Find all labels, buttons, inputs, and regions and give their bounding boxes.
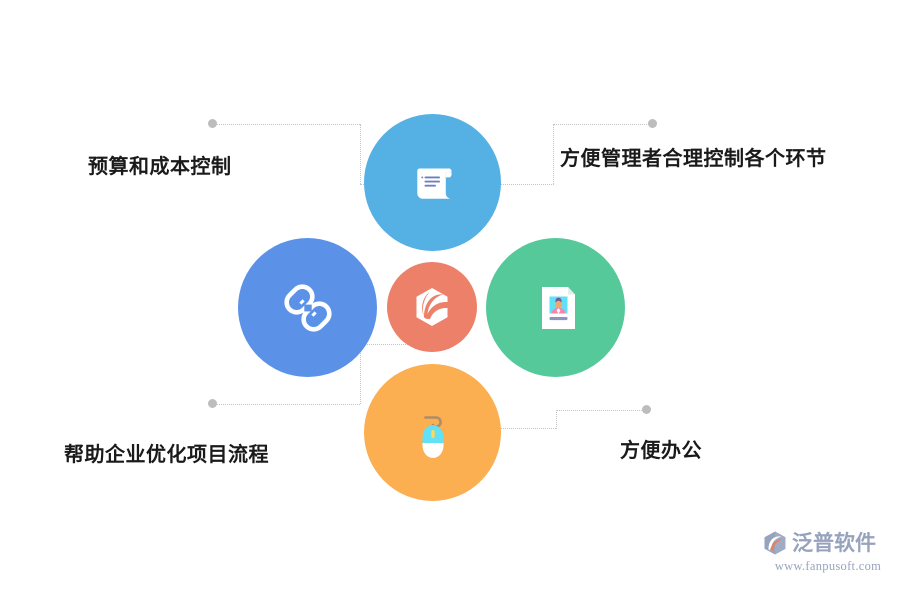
connector-bottom-right-horizontal-2 — [556, 410, 646, 411]
id-card-resume-icon — [527, 279, 585, 337]
node-circle-center[interactable] — [387, 262, 477, 352]
label-top-right: 方便管理者合理控制各个环节 — [560, 142, 827, 171]
connector-top-right-vertical — [553, 124, 554, 184]
connector-bottom-left-vertical — [360, 344, 361, 404]
connector-dot-bottom-right — [642, 405, 651, 414]
chain-link-icon — [277, 277, 339, 339]
watermark: 泛普软件 www.fanpusoft.com — [762, 530, 894, 588]
connector-top-right-horizontal-2 — [500, 184, 554, 185]
connector-top-left-horizontal — [214, 124, 360, 125]
watermark-brand-name: 泛普软件 — [792, 533, 876, 554]
connector-bottom-left-horizontal-2 — [360, 344, 408, 345]
connector-top-left-vertical — [360, 124, 361, 184]
computer-mouse-icon — [403, 403, 463, 463]
connector-bottom-left-horizontal — [214, 404, 360, 405]
connector-dot-top-left — [208, 119, 217, 128]
infographic-canvas: 预算和成本控制 方便管理者合理控制各个环节 帮助企业优化项目流程 方便办公 泛普… — [0, 0, 900, 600]
connector-bottom-right-vertical — [556, 410, 557, 429]
node-circle-left[interactable] — [238, 238, 377, 377]
fanpu-swirl-logo-icon — [762, 530, 788, 556]
leaf-hexagon-logo-icon — [410, 285, 454, 329]
scroll-document-icon — [405, 155, 461, 211]
connector-dot-bottom-left — [208, 399, 217, 408]
node-circle-bottom[interactable] — [364, 364, 501, 501]
label-bottom-left: 帮助企业优化项目流程 — [64, 438, 269, 467]
connector-dot-top-right — [648, 119, 657, 128]
label-top-left: 预算和成本控制 — [88, 150, 232, 179]
connector-bottom-right-horizontal — [500, 428, 556, 429]
node-circle-right[interactable] — [486, 238, 625, 377]
watermark-url: www.fanpusoft.com — [762, 559, 894, 574]
node-circle-top[interactable] — [364, 114, 501, 251]
label-bottom-right: 方便办公 — [620, 434, 702, 463]
connector-top-right-horizontal — [553, 124, 653, 125]
watermark-brand-row: 泛普软件 — [762, 530, 894, 556]
